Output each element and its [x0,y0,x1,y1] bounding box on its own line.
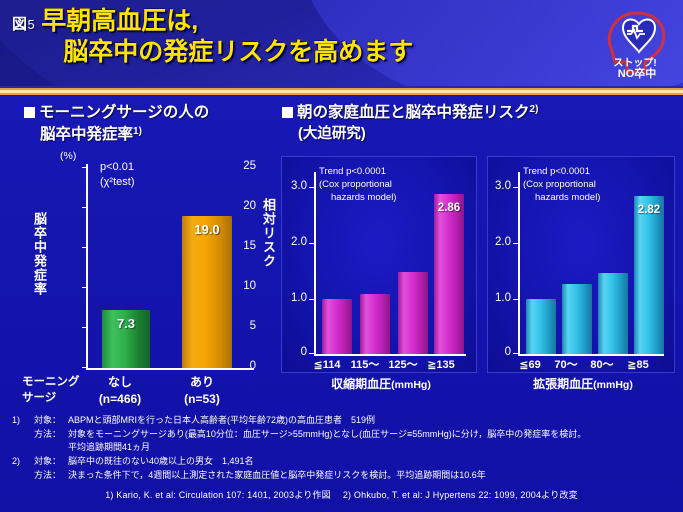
footnote-2-row-2-key: 方法： [34,469,68,483]
bullet-square-icon [282,107,293,118]
chart-c-ytick-3: 3.0 [483,180,511,192]
chart-a-xcat-nashi-n: (n=466) [86,391,154,408]
panel-b-heading-superscript: 2) [530,104,539,115]
chart-a-plot-area: 7.3 19.0 [88,168,254,368]
chart-b-bar-2 [360,294,390,354]
panel-a-heading-line-1: モーニングサージの人の [39,104,209,121]
page-title: 早朝高血圧は, 脳卒中の発症リスクを高めます [41,6,413,67]
footnote-1-row-3: 平均追跡期間41ヵ月 [12,441,672,455]
chart-c-bar-2 [562,284,592,354]
chart-c-ytick-2: 2.0 [483,236,511,248]
title-line-1: 早朝高血圧は, [41,6,413,37]
footnote-2-row-1-key: 対象： [34,455,68,469]
figure-number: 図5 [12,6,35,34]
chart-stroke-incidence-rate: (%) 脳卒中発症率 25 20 15 10 5 0 p<0.01 (χ²tes… [24,152,256,392]
footnote-2-row-2: 方法： 決まった条件下で，4週間以上測定された家庭血圧値と脳卒中発症リスクを検討… [12,469,672,483]
slide-header: 図5 早朝高血圧は, 脳卒中の発症リスクを高めます ストップ! NO卒中 [0,0,683,86]
panel-a-heading: モーニングサージの人の 脳卒中発症率1) [24,102,209,145]
chart-c-bar-4: 2.82 [634,196,664,354]
panel-a-heading-superscript: 1) [133,126,142,137]
chart-a-y-unit: (%) [60,150,76,162]
chart-b-bar-value-4: 2.86 [434,202,464,214]
footnote-1-row-1-key: 対象： [34,414,68,428]
footnote-2-row-1-text: 脳卒中の既往のない40歳以上の男女 1,491名 [68,455,672,469]
chart-a-x-group-label-line-2: サージ [22,390,80,406]
chart-b-y-axis-title: 相対リスク [259,198,278,268]
footnote-2-row-1: 2) 対象： 脳卒中の既往のない40歳以上の男女 1,491名 [12,455,672,469]
footnote-1-marker: 1) [12,414,34,428]
chart-c-bar-3 [598,273,628,354]
footnotes: 1) 対象： ABPMと頭部MRIを行った日本人高齢者(平均年齢72歳)の高血圧… [12,414,672,482]
panel-a-heading-line-2: 脳卒中発症率 [40,126,133,143]
chart-diastolic-relative-risk: 3.0 2.0 1.0 0 Trend p<0.0001 (Cox propor… [487,156,673,394]
chart-b-x-axis-unit: (mmHg) [391,379,431,391]
chart-c-x-axis-unit: (mmHg) [593,379,633,391]
citation-2: 2) Ohkubo, T. et al: J Hypertens 22: 109… [343,490,578,500]
chart-a-x-group-label: モーニング サージ [22,374,80,406]
citations: 1) Kario, K. et al: Circulation 107: 140… [0,488,683,501]
chart-a-xcat-nashi-label: なし [86,374,154,391]
chart-b-x-axis-title: 収縮期血圧(mmHg) [291,375,471,392]
chart-a-y-axis-title: 脳卒中発症率 [30,212,49,296]
chart-c-x-axis-title-text: 拡張期血圧 [533,377,593,391]
chart-a-xcat-ari-label: あり [168,374,236,391]
stop-no-stroke-logo-icon: ストップ! NO卒中 [601,4,677,82]
slide-title-block: 図5 早朝高血圧は, 脳卒中の発症リスクを高めます [12,6,413,67]
chart-b-bar-3 [398,272,428,354]
chart-b-ytick-0: 0 [279,346,307,358]
footnote-2-row-2-spacer [12,469,34,483]
panel-b-heading-line-2: (大迫研究) [298,124,538,144]
chart-a-bar-value-ari: 19.0 [182,222,232,237]
chart-b-ytick-2: 2.0 [279,236,307,248]
footnote-1-row-1-text: ABPMと頭部MRIを行った日本人高齢者(平均年齢72歳)の高血圧患者 519例 [68,414,672,428]
panel-b-heading: 朝の家庭血圧と脳卒中発症リスク2) (大迫研究) [282,102,538,144]
footnote-1-row-2: 方法： 対象をモーニングサージあり(最高10分位：血圧サージ>55mmHg)とな… [12,428,672,442]
chart-c-x-axis [518,354,664,356]
chart-a-xcat-ari-n: (n=53) [168,391,236,408]
footnote-2-row-2-text: 決まった条件下で，4週間以上測定された家庭血圧値と脳卒中発症リスクを検討。平均追… [68,469,672,483]
header-divider [0,86,683,95]
citation-1: 1) Kario, K. et al: Circulation 107: 140… [105,490,331,500]
chart-systolic-relative-risk: 相対リスク 3.0 2.0 1.0 0 Trend p<0.0001 (Cox … [281,156,475,394]
logo-text-line-2: NO卒中 [618,66,657,80]
chart-a-bar-ari: 19.0 [182,216,232,368]
chart-c-bar-value-4: 2.82 [634,204,664,216]
title-line-2: 脳卒中の発症リスクを高めます [63,37,413,68]
footnote-1-row-2-text: 対象をモーニングサージあり(最高10分位：血圧サージ>55mmHg)となし(血圧… [68,428,672,442]
footnote-2-marker: 2) [12,455,34,469]
chart-a-bar-nashi: 7.3 [102,310,150,368]
chart-c-x-axis-title: 拡張期血圧(mmHg) [495,375,671,392]
chart-c-ytick-1: 1.0 [483,292,511,304]
chart-a-x-group-label-line-1: モーニング [22,374,80,390]
chart-a-xcat-nashi: なし (n=466) [86,374,154,408]
figure-number-label: 図 [12,16,28,33]
chart-c-plot-area: 2.82 [520,172,664,354]
chart-b-bar-4: 2.86 [434,194,464,354]
figure-number-value: 5 [28,17,36,32]
chart-a-bar-value-nashi: 7.3 [102,316,150,331]
footnote-1-row-2-key: 方法： [34,428,68,442]
chart-c-ytick-0: 0 [483,346,511,358]
chart-b-xcat-4: ≧135 [417,358,465,373]
footnote-1-row-2-spacer [12,428,34,442]
bullet-square-icon [24,107,35,118]
panel-b-heading-line-1: 朝の家庭血圧と脳卒中発症リスク [297,104,530,121]
footnote-1-row-1: 1) 対象： ABPMと頭部MRIを行った日本人高齢者(平均年齢72歳)の高血圧… [12,414,672,428]
slide-root: 図5 早朝高血圧は, 脳卒中の発症リスクを高めます ストップ! NO卒中 モーニ… [0,0,683,512]
chart-b-ytick-1: 1.0 [279,292,307,304]
chart-b-plot-area: 2.86 [316,172,466,354]
chart-b-x-axis-title-text: 収縮期血圧 [331,377,391,391]
chart-a-xcat-ari: あり (n=53) [168,374,236,408]
chart-c-xcat-4: ≧85 [615,358,661,373]
chart-b-bar-1 [322,299,352,354]
chart-b-ytick-3: 3.0 [279,180,307,192]
chart-c-bar-1 [526,299,556,354]
chart-b-x-axis [314,354,466,356]
chart-a-x-axis [86,368,254,370]
